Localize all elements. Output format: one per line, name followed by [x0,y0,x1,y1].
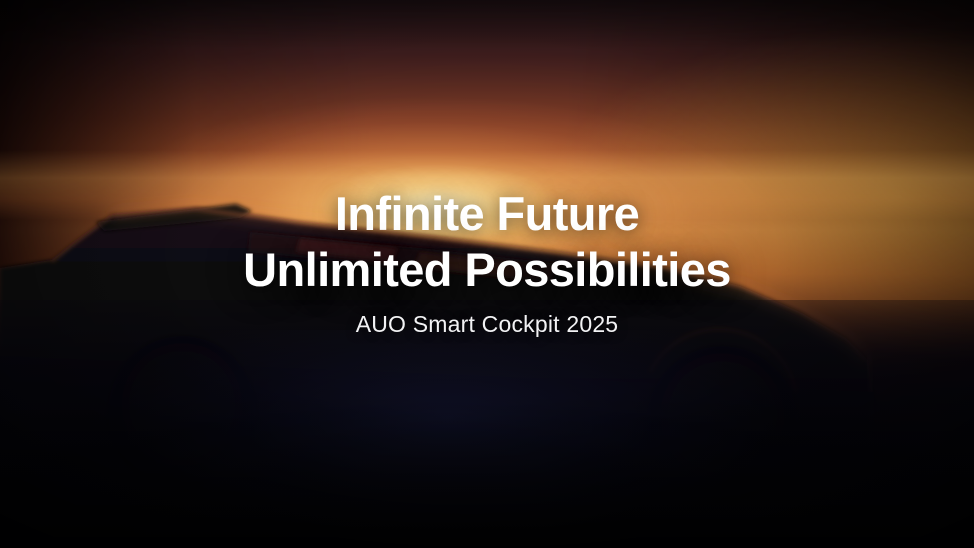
headline-line-1: Infinite Future [0,186,974,242]
foreground-cool-layer [0,330,974,548]
headline-line-2: Unlimited Possibilities [0,242,974,298]
headline-block: Infinite Future Unlimited Possibilities … [0,186,974,338]
key-visual-stage: Infinite Future Unlimited Possibilities … [0,0,974,548]
subtitle: AUO Smart Cockpit 2025 [0,310,974,338]
